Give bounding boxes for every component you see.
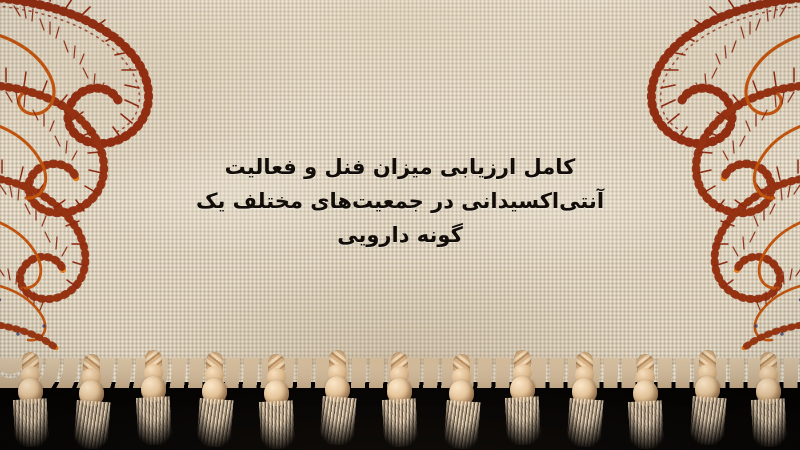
title-line-1: کامل ارزیابی میزان فنل و فعالیت [150,150,650,184]
tassel-skirt [382,398,418,448]
tassel-skirt [13,398,49,448]
tassel [132,350,176,448]
tassel-skirt [319,396,356,446]
tassel [624,354,668,450]
tassel-skirt [259,400,295,450]
tassel-skirt [136,396,172,446]
tassel-skirt [566,398,603,448]
tassel-skirt [751,398,787,448]
tassel [378,352,422,450]
tassel-skirt [689,396,726,446]
tassel [747,352,791,450]
tassel [316,350,360,448]
knotted-tassel-fringe [0,352,800,450]
tassel [440,354,484,450]
tassel [70,354,114,450]
tassel-skirt [505,396,541,446]
slide-title: کامل ارزیابی میزان فنل و فعالیت آنتی‌اکس… [0,150,800,252]
tassel-skirt [443,400,480,450]
tassel [9,352,53,450]
tassel [255,354,299,450]
tassel [501,350,545,448]
title-line-3: گونه دارویی [150,218,650,252]
tassel-skirt [196,398,233,448]
tassel-skirt [628,400,664,450]
tassel-skirt [73,400,110,450]
tassel [193,352,237,450]
slide-canvas: کامل ارزیابی میزان فنل و فعالیت آنتی‌اکس… [0,0,800,450]
tassel [686,350,730,448]
tassel [563,352,607,450]
title-line-2: آنتی‌اکسیدانی در جمعیت‌های مختلف یک [150,184,650,218]
